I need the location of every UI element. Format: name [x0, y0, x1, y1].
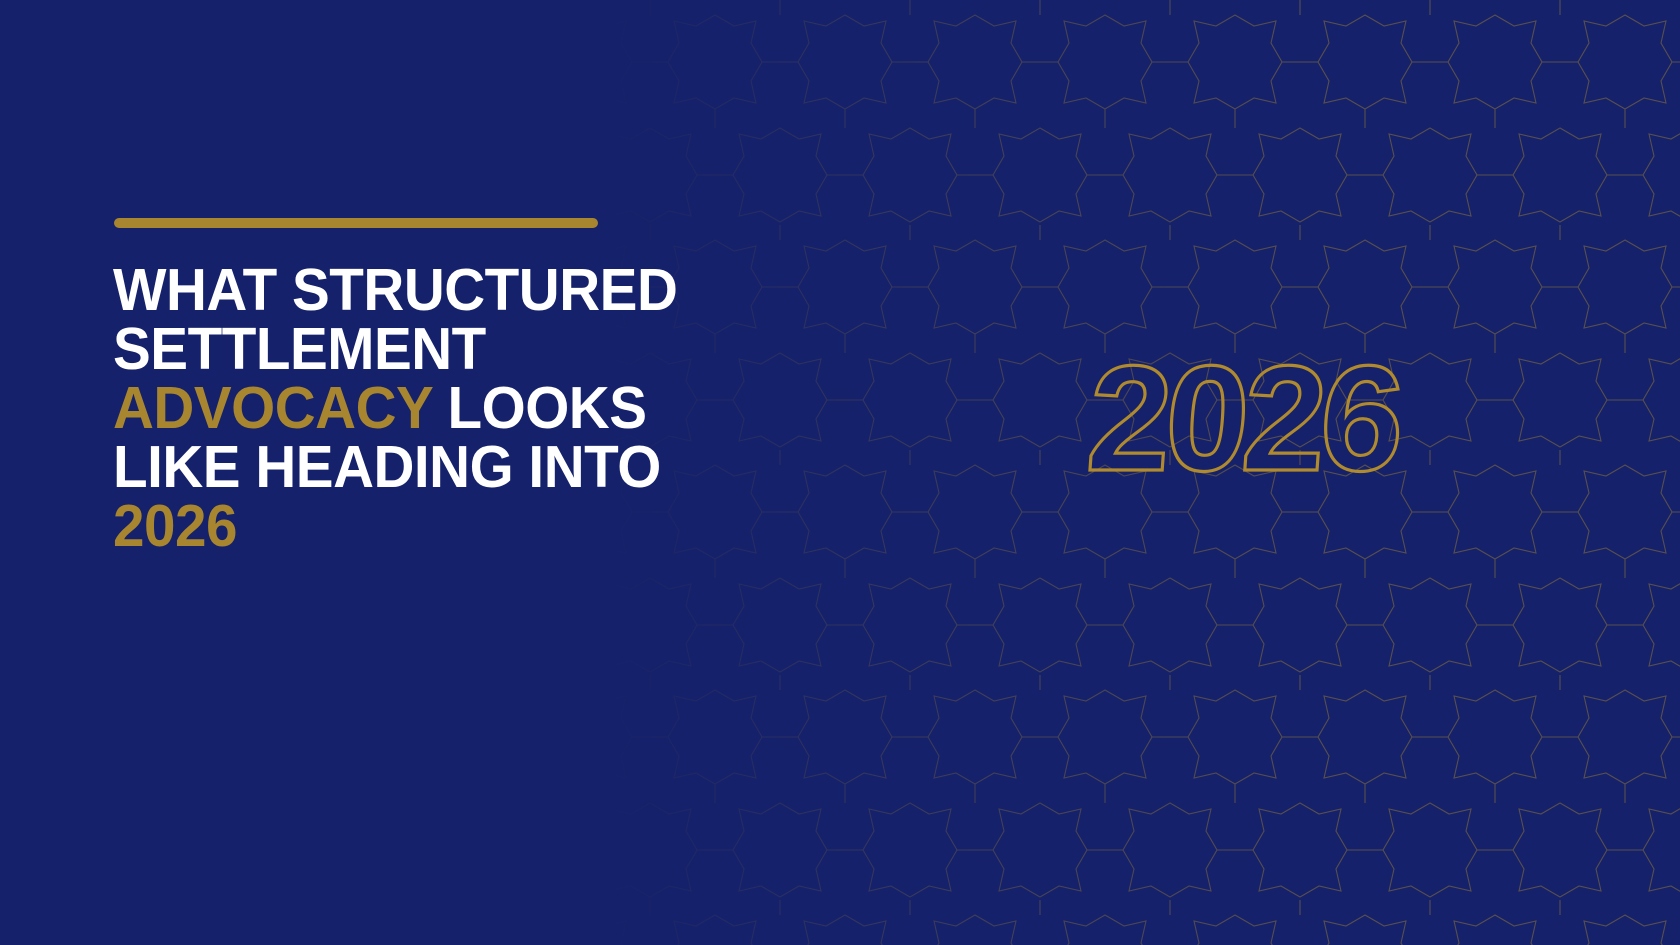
gold-accent-rule: [114, 218, 598, 228]
page-title: WHAT STRUCTURED SETTLEMENT ADVOCACY LOOK…: [113, 261, 785, 556]
year-outline-text: 2026: [1083, 334, 1406, 502]
headline-segment-gold-advocacy: ADVOCACY: [113, 375, 432, 441]
headline-segment-white-1: WHAT STRUCTURED SETTLEMENT: [113, 257, 693, 382]
slide-canvas: 2026 WHAT STRUCTURED SETTLEMENT ADVOCACY…: [0, 0, 1680, 945]
year-outline-graphic: 2026: [1098, 338, 1388, 493]
headline-segment-gold-year: 2026: [113, 493, 237, 559]
headline-block: WHAT STRUCTURED SETTLEMENT ADVOCACY LOOK…: [113, 218, 813, 556]
